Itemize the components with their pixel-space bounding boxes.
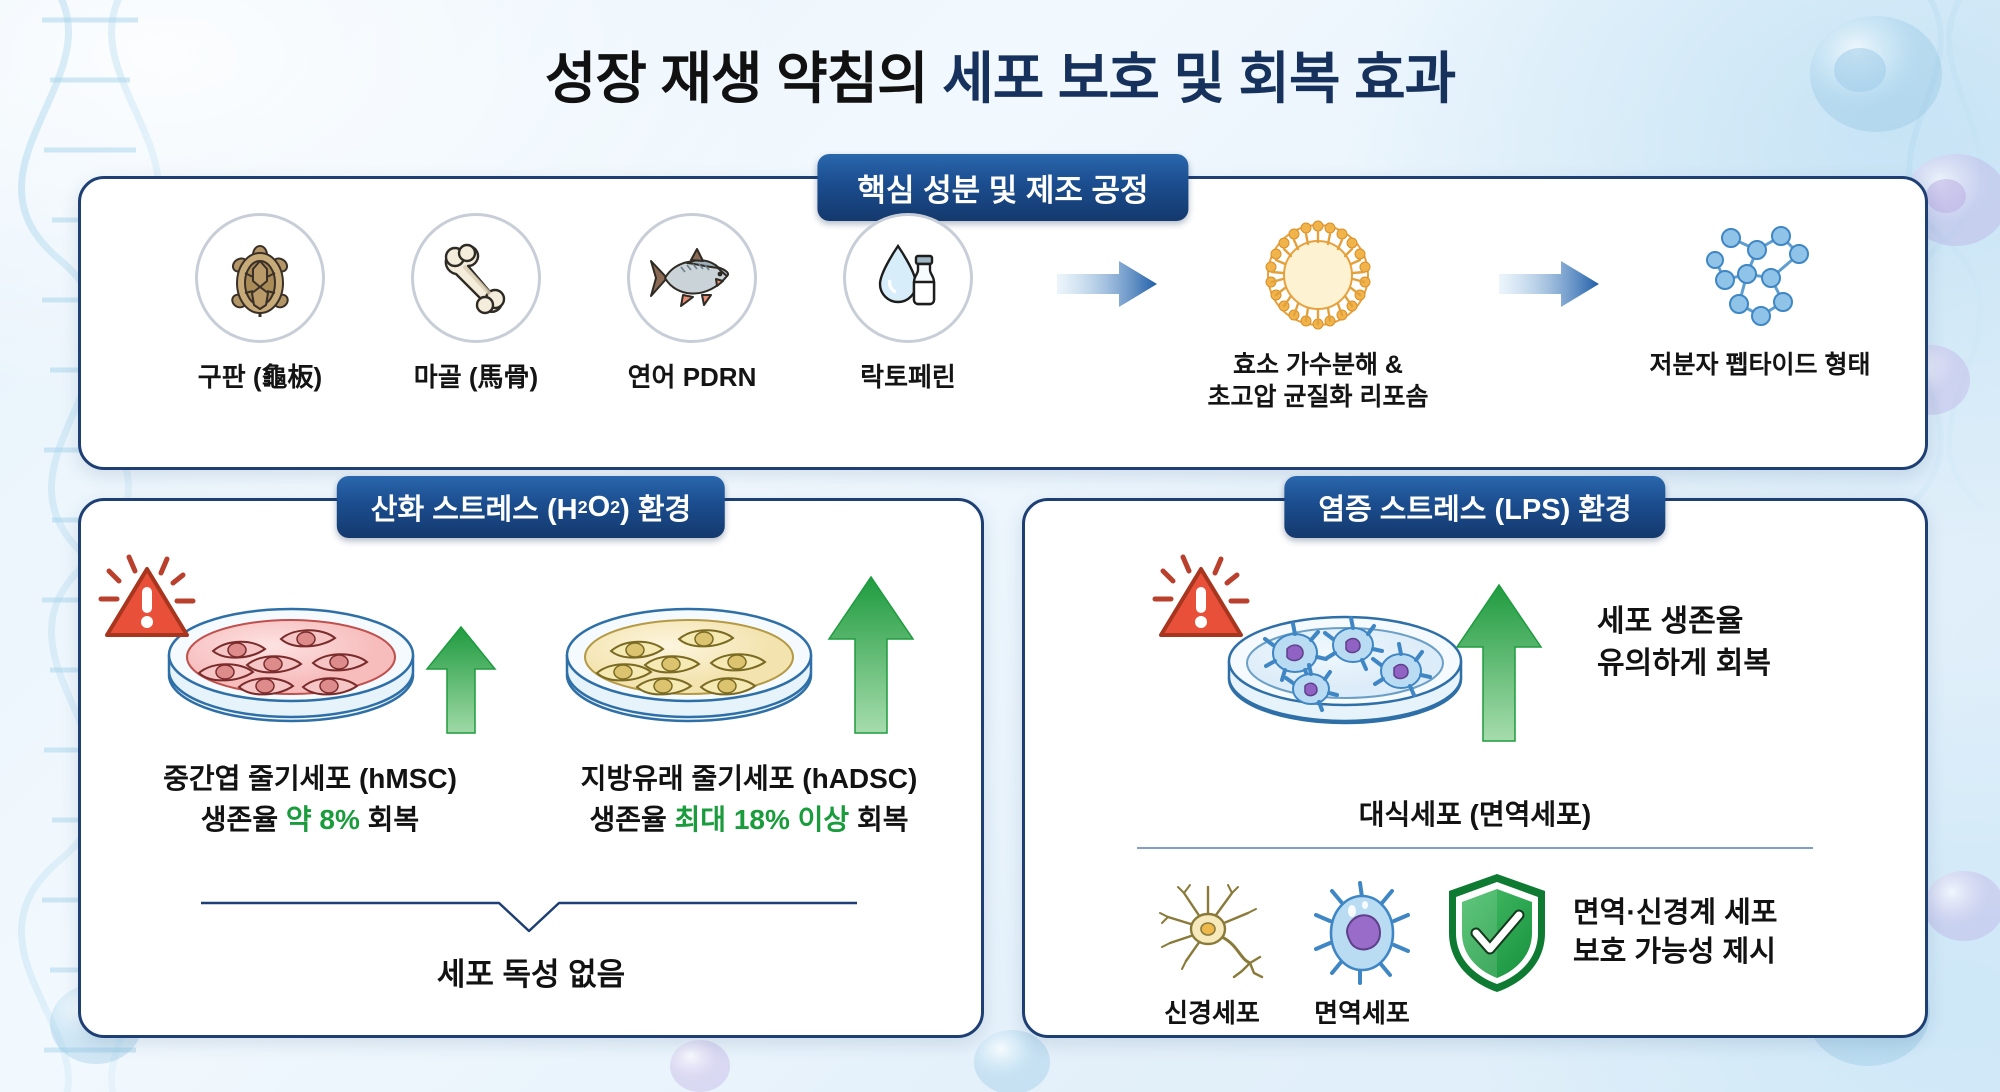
inflammatory-stress-card: 염증 스트레스 (LPS) 환경 bbox=[1022, 498, 1928, 1038]
shield-conclusion[interactable]: 면역·신경계 세포 보호 가능성 제시 bbox=[1443, 871, 1777, 995]
hadsc-text: 지방유래 줄기세포 (hADSC) 생존율 최대 18% 이상 회복 bbox=[529, 759, 969, 840]
petri-dish-pink-icon bbox=[95, 547, 525, 743]
ingredient-lactoferrin-label: 락토페린 bbox=[813, 357, 1003, 394]
oxidative-summary: 세포 독성 없음 bbox=[81, 949, 981, 994]
hmsc-line2: 생존율 약 8% 회복 bbox=[95, 800, 525, 841]
salmon-icon-frame bbox=[627, 213, 757, 343]
process-liposome[interactable]: 효소 가수분해 & 초고압 균질화 리포솜 bbox=[1153, 213, 1483, 413]
shield-line1: 면역·신경계 세포 bbox=[1573, 894, 1777, 933]
shield-check-icon bbox=[1443, 871, 1551, 995]
neuron-icon bbox=[1154, 881, 1270, 985]
arrow-up-icon bbox=[427, 627, 495, 733]
peptide-molecule-icon bbox=[1695, 216, 1825, 334]
turtle-icon-frame bbox=[195, 213, 325, 343]
process-liposome-line2: 초고압 균질화 리포솜 bbox=[1153, 381, 1483, 413]
immune-cell-icon-frame bbox=[1287, 873, 1437, 985]
survival-recovery-line2: 유의하게 회복 bbox=[1597, 643, 1927, 685]
process-arrow-1 bbox=[1057, 259, 1157, 314]
mini-immune-cell[interactable]: 면역세포 bbox=[1287, 873, 1437, 1030]
hadsc-line2-highlight: 최대 18% 이상 bbox=[675, 804, 850, 835]
column-hadsc[interactable]: 지방유래 줄기세포 (hADSC) 생존율 최대 18% 이상 회복 bbox=[529, 547, 969, 840]
process-peptide-label: 저분자 펩타이드 형태 bbox=[1595, 349, 1925, 381]
immune-cell-icon bbox=[1310, 881, 1414, 985]
column-hmsc[interactable]: 중간엽 줄기세포 (hMSC) 생존율 약 8% 회복 bbox=[95, 547, 525, 840]
badge-sub-1: 2 bbox=[578, 497, 588, 518]
hmsc-scene bbox=[95, 547, 525, 743]
mini-neuron[interactable]: 신경세포 bbox=[1137, 873, 1287, 1030]
ingredient-bone[interactable]: 마골 (馬骨) bbox=[381, 213, 571, 394]
oxidative-stress-badge: 산화 스트레스 (H2O2) 환경 bbox=[337, 476, 725, 538]
petri-dish-yellow-icon bbox=[529, 547, 969, 743]
shield-conclusion-text: 면역·신경계 세포 보호 가능성 제시 bbox=[1573, 894, 1777, 972]
mini-immune-cell-label: 면역세포 bbox=[1287, 993, 1437, 1030]
ingredient-lactoferrin[interactable]: 락토페린 bbox=[813, 213, 1003, 394]
survival-recovery-line1: 세포 생존율 bbox=[1597, 601, 1927, 643]
ingredient-bone-label: 마골 (馬骨) bbox=[381, 357, 571, 394]
hadsc-line1: 지방유래 줄기세포 (hADSC) bbox=[529, 759, 969, 800]
process-arrow-2 bbox=[1499, 259, 1599, 314]
core-ingredients-card: 핵심 성분 및 제조 공정 bbox=[78, 176, 1928, 470]
badge-text-pre: 산화 스트레스 (H bbox=[371, 486, 578, 528]
ingredient-turtle-label: 구판 (龜板) bbox=[165, 357, 355, 394]
page-title: 성장 재생 약침의 세포 보호 및 회복 효과 bbox=[0, 34, 2000, 115]
page-title-blue: 세포 보호 및 회복 효과 bbox=[942, 47, 1455, 110]
peptide-molecule-icon-frame bbox=[1595, 213, 1925, 337]
survival-recovery-text: 세포 생존율 유의하게 회복 bbox=[1597, 601, 1927, 685]
neuron-icon-frame bbox=[1137, 873, 1287, 985]
milk-drop-icon-frame bbox=[843, 213, 973, 343]
warning-triangle-icon bbox=[1155, 557, 1247, 635]
hadsc-line2: 생존율 최대 18% 이상 회복 bbox=[529, 800, 969, 841]
warning-triangle-icon bbox=[101, 557, 193, 635]
arrow-right-icon bbox=[1057, 259, 1157, 309]
badge-text-mid: O bbox=[588, 491, 611, 524]
salmon-icon bbox=[647, 243, 737, 313]
inflammatory-stress-badge: 염증 스트레스 (LPS) 환경 bbox=[1284, 476, 1665, 538]
ingredient-salmon[interactable]: 연어 PDRN bbox=[597, 213, 787, 394]
badge-text-post: ) 환경 bbox=[620, 486, 691, 528]
milk-drop-icon bbox=[866, 236, 950, 320]
macrophage-caption: 대식세포 (면역세포) bbox=[1025, 793, 1925, 833]
hmsc-line2-pre: 생존율 bbox=[201, 804, 286, 835]
hmsc-text: 중간엽 줄기세포 (hMSC) 생존율 약 8% 회복 bbox=[95, 759, 525, 840]
ingredient-turtle[interactable]: 구판 (龜板) bbox=[165, 213, 355, 394]
petri-dish-macrophage-icon bbox=[1149, 549, 1609, 749]
arrow-up-icon bbox=[1457, 585, 1541, 741]
mini-neuron-label: 신경세포 bbox=[1137, 993, 1287, 1030]
process-peptide[interactable]: 저분자 펩타이드 형태 bbox=[1595, 213, 1925, 381]
bone-icon-frame bbox=[411, 213, 541, 343]
hmsc-line2-highlight: 약 8% bbox=[286, 804, 360, 835]
arrow-right-icon bbox=[1499, 259, 1599, 309]
page-title-black: 성장 재생 약침의 bbox=[545, 47, 942, 110]
badge-sub-2: 2 bbox=[610, 497, 620, 518]
section-divider bbox=[1137, 847, 1813, 849]
liposome-icon-frame bbox=[1153, 213, 1483, 337]
process-liposome-label: 효소 가수분해 & 초고압 균질화 리포솜 bbox=[1153, 349, 1483, 413]
turtle-icon bbox=[217, 235, 303, 321]
hmsc-line1: 중간엽 줄기세포 (hMSC) bbox=[95, 759, 525, 800]
hadsc-line2-pre: 생존율 bbox=[589, 804, 674, 835]
ingredient-salmon-label: 연어 PDRN bbox=[597, 357, 787, 394]
ingredient-row: 구판 (龜板) 마골 (馬骨) bbox=[81, 213, 1925, 443]
hadsc-scene bbox=[529, 547, 969, 743]
macrophage-scene bbox=[1149, 549, 1609, 749]
arrow-up-icon bbox=[829, 577, 913, 733]
liposome-icon bbox=[1259, 216, 1377, 334]
summary-connector bbox=[199, 899, 859, 935]
bone-icon bbox=[434, 236, 518, 320]
oxidative-stress-card: 산화 스트레스 (H2O2) 환경 bbox=[78, 498, 984, 1038]
core-ingredients-badge: 핵심 성분 및 제조 공정 bbox=[817, 154, 1188, 221]
hmsc-line2-post: 회복 bbox=[360, 804, 419, 835]
hadsc-line2-post: 회복 bbox=[849, 804, 908, 835]
process-liposome-line1: 효소 가수분해 & bbox=[1153, 349, 1483, 381]
shield-line2: 보호 가능성 제시 bbox=[1573, 933, 1777, 972]
